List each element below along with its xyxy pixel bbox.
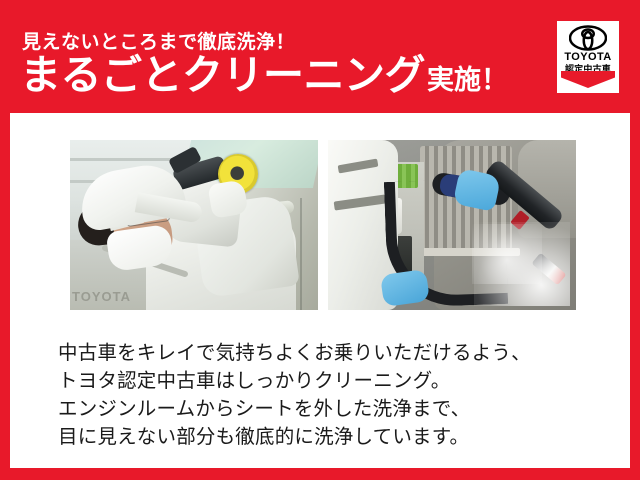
header-banner: 見えないところまで徹底洗浄！ まるごとクリーニング 実施！ TOYOTA 認定中… [0, 0, 640, 113]
toyota-certified-badge: TOYOTA 認定中古車 [557, 21, 619, 93]
headline-suffix-text: 実施！ [425, 67, 508, 96]
content-card: TOYOTA [10, 113, 630, 468]
frame-border-left [0, 0, 10, 480]
badge-wordmark-text: TOYOTA [557, 52, 619, 63]
photo-interior-steam-cleaning [328, 140, 576, 310]
body-line-3: エンジンルームからシートを外した洗浄まで、 [58, 395, 598, 423]
promo-banner-page: 見えないところまで徹底洗浄！ まるごとクリーニング 実施！ TOYOTA 認定中… [0, 0, 640, 480]
body-copy: 中古車をキレイで気持ちよくお乗りいただけるよう、 トヨタ認定中古車はしっかりクリ… [58, 339, 598, 451]
frame-border-bottom [0, 468, 640, 480]
badge-chevron-shape [561, 71, 615, 88]
header-kicker-text: 見えないところまで徹底洗浄！ [22, 27, 295, 54]
uniform-logo-text: TOYOTA [72, 289, 131, 304]
frame-border-right [630, 0, 640, 480]
body-line-2: トヨタ認定中古車はしっかりクリーニング。 [58, 367, 598, 395]
toyota-ellipse-emblem-icon [569, 25, 607, 51]
photo-exterior-polishing: TOYOTA [70, 140, 318, 310]
headline-row: まるごとクリーニング 実施！ [20, 55, 508, 96]
headline-main-text: まるごとクリーニング [20, 55, 425, 96]
photo-gallery: TOYOTA [70, 140, 576, 310]
body-line-4: 目に見えない部分も徹底的に洗浄しています。 [58, 423, 598, 451]
body-line-1: 中古車をキレイで気持ちよくお乗りいただけるよう、 [58, 339, 598, 367]
